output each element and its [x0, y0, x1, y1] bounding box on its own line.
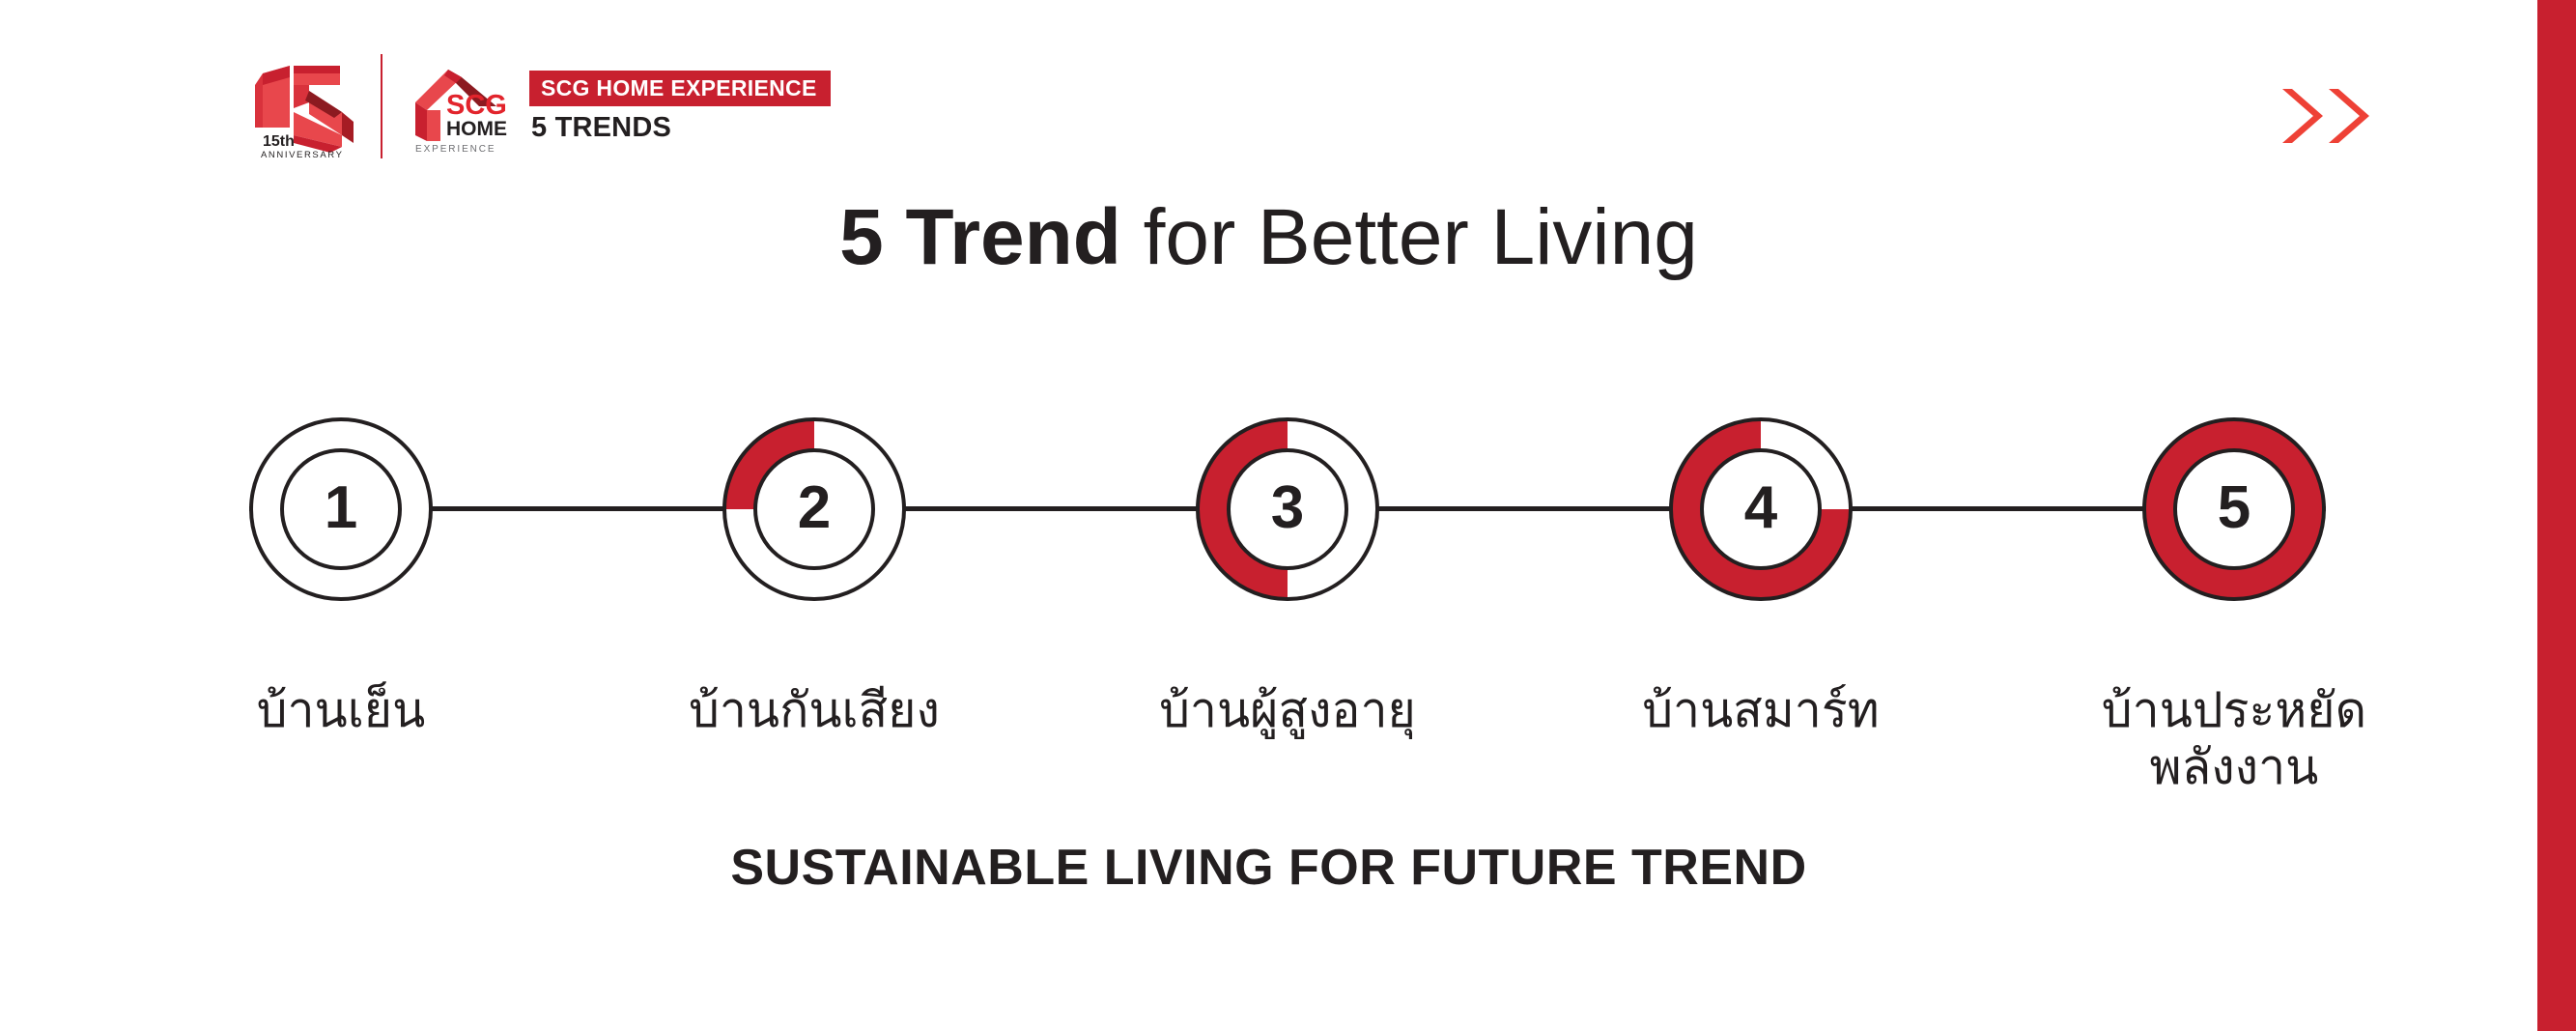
scg-home-experience-logo: SCG HOME EXPERIENCE	[408, 56, 508, 157]
bottom-tagline: SUSTAINABLE LIVING FOR FUTURE TREND	[0, 843, 2537, 893]
trend-label-1: บ้านเย็น	[182, 682, 500, 739]
trend-label-3: บ้านผู้สูงอายุ	[1128, 682, 1447, 739]
trend-label-list: บ้านเย็นบ้านกันเสียงบ้านผู้สูงอายุบ้านสม…	[249, 682, 2326, 827]
timeline-node-list: 1 2 3 4	[249, 329, 2326, 696]
node-number: 2	[722, 417, 906, 601]
page-title-light: for Better Living	[1121, 193, 1698, 281]
node-number: 3	[1196, 417, 1379, 601]
node-number: 4	[1669, 417, 1853, 601]
brand-sub-label: 5 TRENDS	[529, 114, 831, 142]
svg-text:ANNIVERSARY: ANNIVERSARY	[261, 150, 344, 160]
svg-text:SCG: SCG	[446, 90, 507, 121]
svg-text:HOME: HOME	[446, 118, 507, 140]
node-number: 5	[2142, 417, 2326, 601]
trend-label-2: บ้านกันเสียง	[655, 682, 974, 739]
trend-timeline: 1 2 3 4	[0, 329, 2576, 696]
timeline-node-5[interactable]: 5	[2142, 417, 2326, 601]
trend-label-5: บ้านประหยัด พลังงาน	[2075, 682, 2393, 796]
svg-text:15th: 15th	[263, 133, 295, 150]
logo-divider	[381, 54, 382, 158]
timeline-node-4[interactable]: 4	[1669, 417, 1853, 601]
page-title: 5 Trend for Better Living	[0, 198, 2537, 277]
double-chevron-right-icon[interactable]	[2280, 85, 2375, 147]
node-number: 1	[249, 417, 433, 601]
timeline-node-2[interactable]: 2	[722, 417, 906, 601]
brand-header: 15th ANNIVERSARY SCG HOME EXPERIENCE SCG	[249, 50, 831, 162]
trend-label-4: บ้านสมาร์ท	[1601, 682, 1920, 739]
brand-chip-label: SCG HOME EXPERIENCE	[529, 71, 831, 106]
infographic-canvas: 15th ANNIVERSARY SCG HOME EXPERIENCE SCG	[0, 0, 2576, 1031]
page-title-strong: 5 Trend	[839, 193, 1121, 281]
15th-anniversary-logo: 15th ANNIVERSARY	[249, 52, 363, 160]
timeline-node-1[interactable]: 1	[249, 417, 433, 601]
timeline-node-3[interactable]: 3	[1196, 417, 1379, 601]
svg-text:EXPERIENCE: EXPERIENCE	[415, 144, 495, 155]
brand-title-lockup: SCG HOME EXPERIENCE 5 TRENDS	[529, 71, 831, 142]
